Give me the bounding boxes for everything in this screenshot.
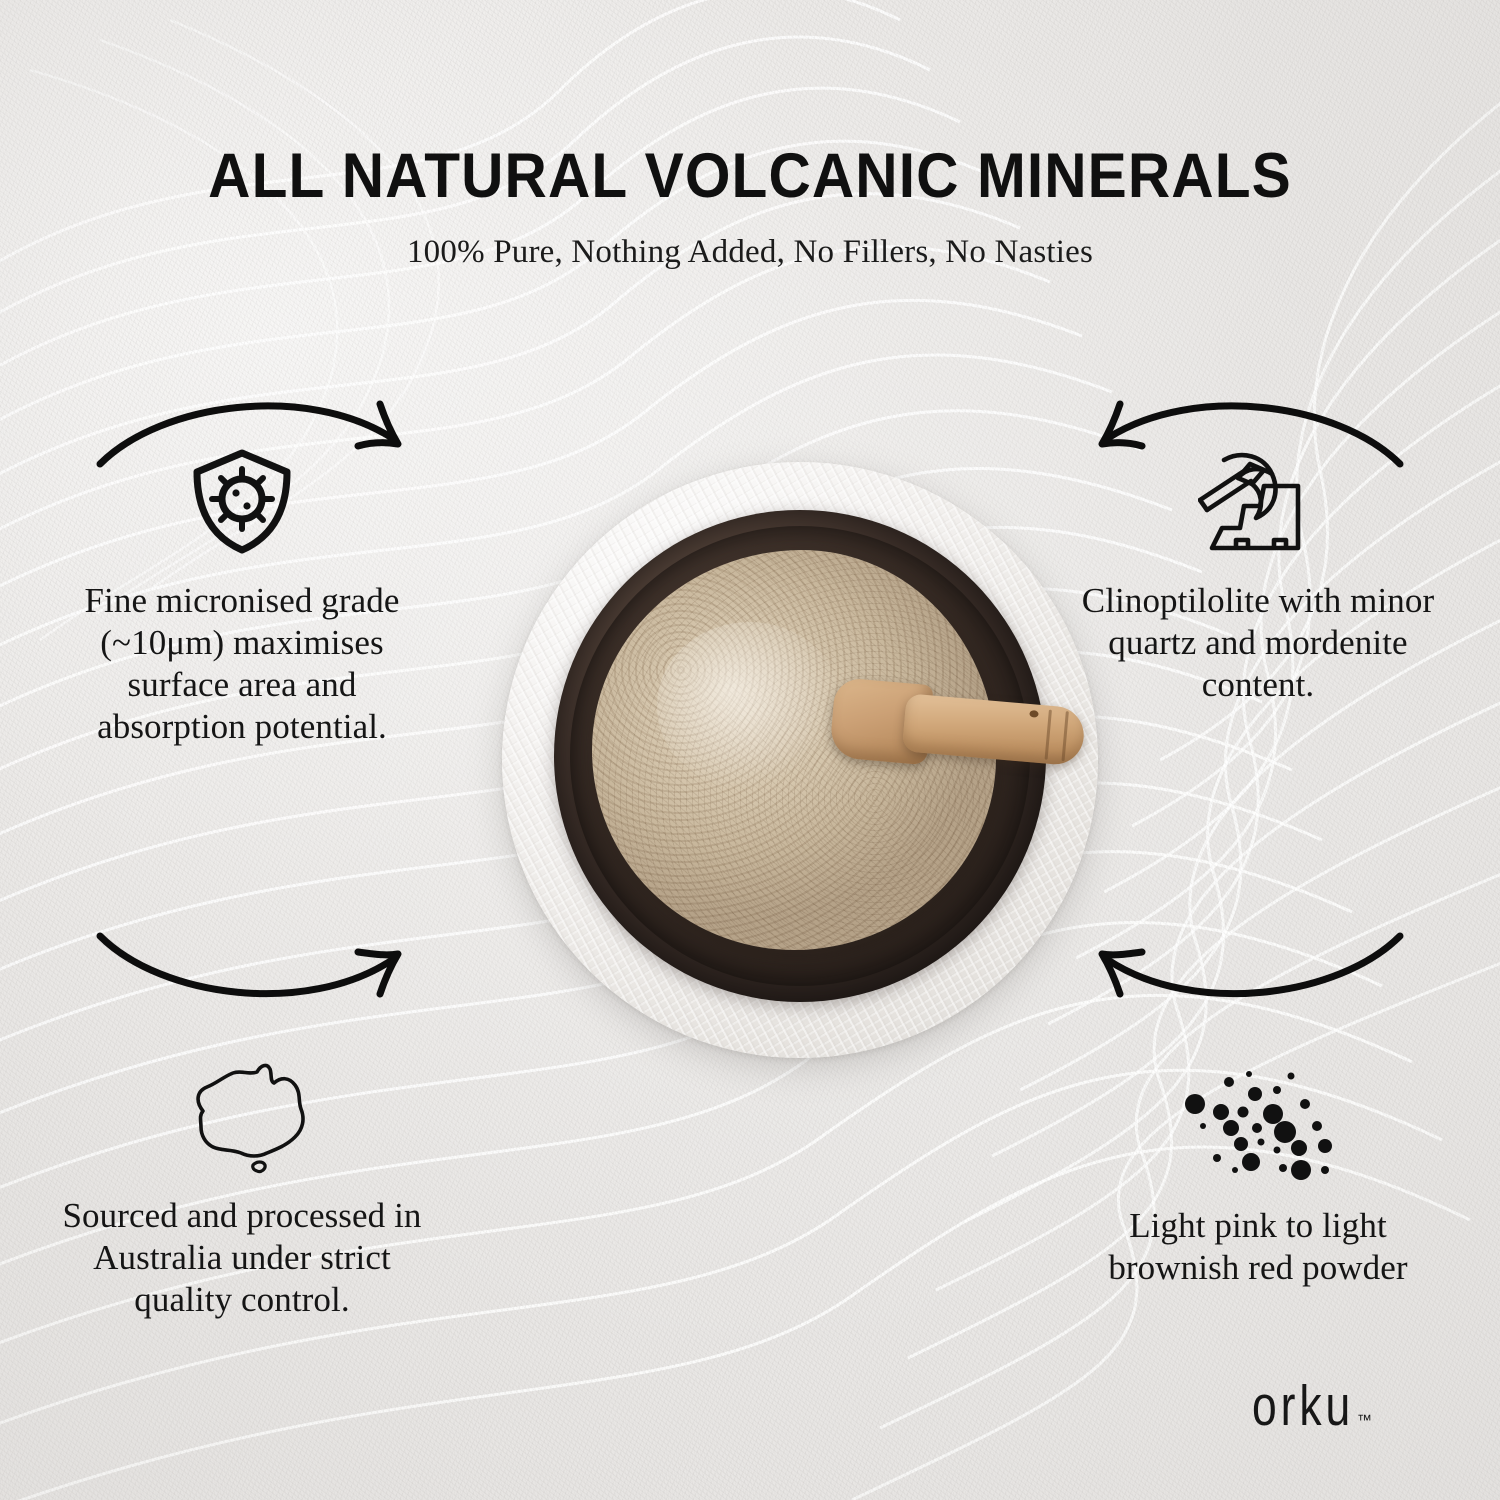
shield-virus-icon	[62, 440, 422, 562]
page-subtitle: 100% Pure, Nothing Added, No Fillers, No…	[0, 236, 1500, 269]
feature-australian-sourced: Sourced and processed in Australia under…	[62, 1055, 422, 1321]
feature-text: Sourced and processed in Australia under…	[62, 1195, 422, 1321]
product-photo	[502, 462, 1098, 1058]
feature-powder-colour: Light pink to light brownish red powder	[1078, 1065, 1438, 1289]
trademark-symbol: ™	[1357, 1412, 1372, 1429]
australia-map-icon	[62, 1055, 422, 1177]
arrow-curve-up-left-icon	[1068, 918, 1408, 1018]
feature-fine-micronised-grade: Fine micronised grade (~10μm) maximises …	[62, 440, 422, 748]
feature-text: Light pink to light brownish red powder	[1078, 1205, 1438, 1289]
feature-mineral-composition: Clinoptilolite with minor quartz and mor…	[1078, 440, 1438, 706]
product-infographic-page: ALL NATURAL VOLCANIC MINERALS 100% Pure,…	[0, 0, 1500, 1500]
powder-particles-icon	[1078, 1065, 1438, 1187]
brand-name: orku	[1252, 1378, 1354, 1435]
page-title: ALL NATURAL VOLCANIC MINERALS	[53, 145, 1448, 208]
header: ALL NATURAL VOLCANIC MINERALS 100% Pure,…	[0, 145, 1500, 269]
ceramic-bowl	[554, 510, 1046, 1002]
feature-text: Fine micronised grade (~10μm) maximises …	[62, 580, 422, 748]
wooden-scoop-handle	[902, 693, 1086, 766]
pickaxe-mining-icon	[1078, 440, 1438, 562]
mineral-powder-highlight	[657, 622, 843, 790]
brand-logo: orku ™	[1252, 1378, 1372, 1435]
feature-text: Clinoptilolite with minor quartz and mor…	[1078, 580, 1438, 706]
arrow-curve-up-right-icon	[92, 918, 432, 1018]
